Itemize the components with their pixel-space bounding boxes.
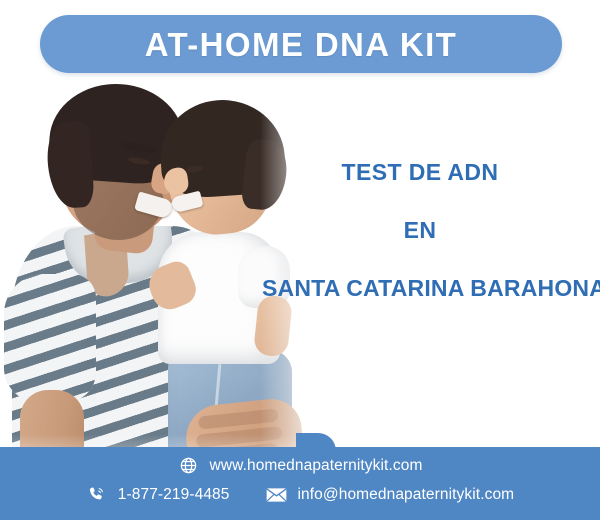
email-label: info@homednapaternitykit.com [298,487,515,503]
header-title: AT-HOME DNA KIT [145,28,457,61]
sleeve-stripes [4,274,96,402]
contact-website[interactable]: www.homednapaternitykit.com [178,455,423,476]
globe-icon [178,455,199,476]
contact-phone[interactable]: 1-877-219-4485 [86,484,230,505]
phone-label: 1-877-219-4485 [118,487,230,503]
contact-email[interactable]: info@homednapaternitykit.com [266,484,515,505]
header-banner: AT-HOME DNA KIT [40,15,562,73]
footer-bar: www.homednapaternitykit.com 1-877-219-44… [0,447,600,520]
website-label: www.homednapaternitykit.com [210,458,423,474]
headline-line-1: TEST DE ADN [236,160,600,184]
poster-canvas: AT-HOME DNA KIT [0,0,600,520]
footer-contact-row: 1-877-219-4485 info@homednapaternitykit.… [0,484,600,505]
headline-block: TEST DE ADN EN SANTA CATARINA BARAHONA [236,160,600,300]
envelope-icon [266,484,287,505]
footer-website-row: www.homednapaternitykit.com [0,455,600,476]
headline-line-2: EN [236,218,600,242]
headline-line-3: SANTA CATARINA BARAHONA [262,276,600,300]
man-sideburn [45,121,95,210]
man-sleeve [4,274,96,402]
footer-corner-notch [296,433,336,453]
phone-icon [86,484,107,505]
